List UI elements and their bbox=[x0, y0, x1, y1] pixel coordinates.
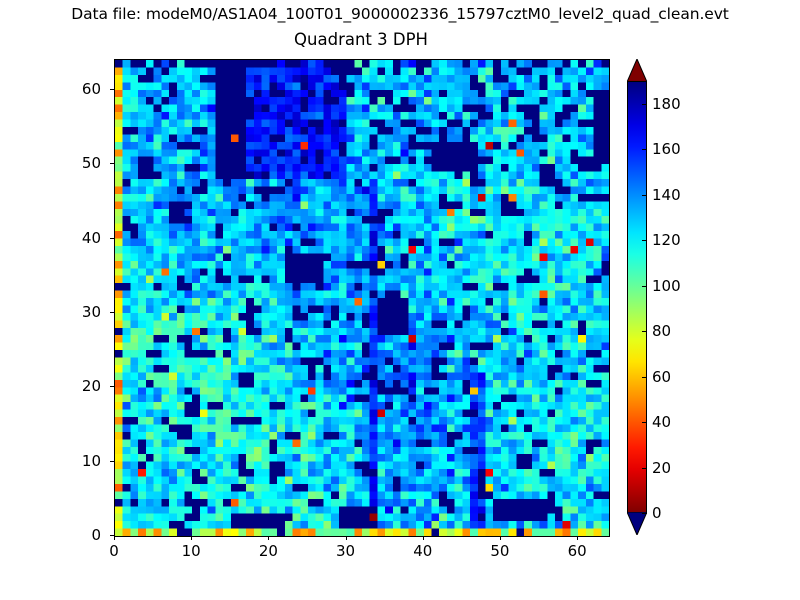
x-tick-mark bbox=[577, 536, 578, 540]
y-tick-label: 30 bbox=[41, 303, 101, 321]
y-tick-mark bbox=[110, 535, 114, 536]
colorbar-tick-mark bbox=[642, 377, 647, 378]
colorbar-tick-label: 40 bbox=[652, 413, 671, 431]
x-tick-label: 60 bbox=[547, 542, 607, 560]
x-tick-label: 20 bbox=[238, 542, 298, 560]
colorbar-tick-mark bbox=[642, 149, 647, 150]
colorbar bbox=[627, 59, 647, 535]
colorbar-gradient bbox=[627, 81, 647, 513]
y-tick-mark bbox=[110, 461, 114, 462]
y-tick-mark bbox=[110, 312, 114, 313]
colorbar-tick-mark bbox=[642, 104, 647, 105]
x-tick-label: 40 bbox=[393, 542, 453, 560]
colorbar-tick-mark bbox=[642, 331, 647, 332]
data-file-suptitle: Data file: modeM0/AS1A04_100T01_90000023… bbox=[0, 5, 800, 23]
colorbar-tick-label: 120 bbox=[652, 231, 681, 249]
y-tick-mark bbox=[110, 238, 114, 239]
heatmap-axes bbox=[114, 59, 610, 537]
colorbar-tick-mark bbox=[642, 195, 647, 196]
colorbar-under-arrow-icon bbox=[627, 512, 647, 535]
y-tick-mark bbox=[110, 163, 114, 164]
colorbar-tick-label: 140 bbox=[652, 186, 681, 204]
y-tick-label: 60 bbox=[41, 80, 101, 98]
colorbar-over-arrow bbox=[627, 59, 647, 82]
heatmap-image bbox=[115, 60, 609, 536]
colorbar-tick-mark bbox=[642, 422, 647, 423]
colorbar-tick-label: 80 bbox=[652, 322, 671, 340]
colorbar-tick-label: 0 bbox=[652, 504, 662, 522]
x-tick-mark bbox=[191, 536, 192, 540]
y-tick-label: 0 bbox=[41, 526, 101, 544]
colorbar-tick-mark bbox=[642, 286, 647, 287]
colorbar-tick-mark bbox=[642, 468, 647, 469]
colorbar-under-arrow bbox=[627, 512, 647, 535]
x-tick-mark bbox=[423, 536, 424, 540]
y-tick-mark bbox=[110, 386, 114, 387]
colorbar-over-arrow-icon bbox=[627, 59, 647, 82]
x-tick-mark bbox=[500, 536, 501, 540]
y-tick-label: 20 bbox=[41, 377, 101, 395]
y-tick-mark bbox=[110, 89, 114, 90]
x-tick-mark bbox=[346, 536, 347, 540]
colorbar-tick-label: 60 bbox=[652, 368, 671, 386]
colorbar-tick-label: 100 bbox=[652, 277, 681, 295]
x-tick-label: 0 bbox=[84, 542, 144, 560]
x-tick-mark bbox=[114, 536, 115, 540]
y-tick-label: 50 bbox=[41, 154, 101, 172]
x-tick-label: 10 bbox=[161, 542, 221, 560]
figure-canvas: Data file: modeM0/AS1A04_100T01_90000023… bbox=[0, 0, 800, 600]
x-tick-mark bbox=[268, 536, 269, 540]
page-title: Quadrant 3 DPH bbox=[114, 30, 608, 49]
x-tick-label: 30 bbox=[316, 542, 376, 560]
y-tick-label: 10 bbox=[41, 452, 101, 470]
colorbar-tick-label: 20 bbox=[652, 459, 671, 477]
colorbar-tick-mark bbox=[642, 240, 647, 241]
x-tick-label: 50 bbox=[470, 542, 530, 560]
y-tick-label: 40 bbox=[41, 229, 101, 247]
colorbar-tick-mark bbox=[642, 513, 647, 514]
colorbar-tick-label: 160 bbox=[652, 140, 681, 158]
colorbar-tick-label: 180 bbox=[652, 95, 681, 113]
